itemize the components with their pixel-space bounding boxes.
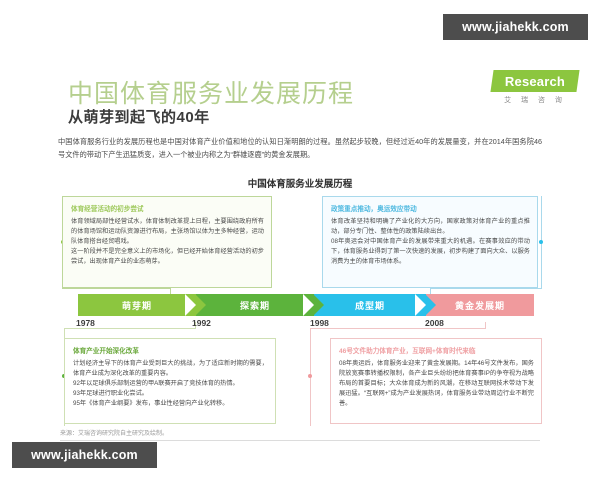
chart-title: 中国体育服务业发展历程 — [0, 176, 600, 190]
callout-body: 08年奥运后，体育服务业迎来了黄金发展期。14年46号文件发布，国务院放宽赛事转… — [339, 359, 534, 409]
callout-body: 体育领域局部性经营试水，体育体制改革提上日程，主要围绕政府所有的体育场馆和运动队… — [71, 217, 264, 267]
year-tick-2008: 2008 — [425, 318, 444, 328]
timeline-segment-germination[interactable]: 萌芽期 — [78, 294, 196, 316]
callout-body: 体育改革坚持和明确了产业化的大方向，国家政策对体育产业的重点推动，部分专门性、整… — [331, 217, 530, 267]
callout-paragraph: 95年《体育产业纲要》发布，事业性经营向产业化转移。 — [73, 399, 268, 409]
callout-paragraph: 08年奥运后，体育服务业迎来了黄金发展期。14年46号文件发布，国务院放宽赛事转… — [339, 359, 534, 409]
timeline-segment-label: 黄金发展期 — [455, 299, 505, 312]
watermark-bottom-text: www.jiahekk.com — [31, 448, 138, 462]
logo-i-letter: i — [487, 71, 491, 86]
timeline-segment-formation[interactable]: 成型期 — [314, 294, 426, 316]
callout-paragraph: 92年以足球俱乐部制运营的甲A联赛开启了竞技体育的热情。 — [73, 379, 268, 389]
callout-heading: 政策重点推动，奥运效应带动 — [331, 203, 530, 213]
watermark-top: www.jiahekk.com — [443, 14, 588, 40]
timeline-segment-golden[interactable]: 黄金发展期 — [426, 294, 534, 316]
year-tick-1998: 1998 — [310, 318, 329, 328]
callout-heading: 体育经营活动的初步尝试 — [71, 203, 264, 213]
timeline-bar: 萌芽期 探索期 成型期 黄金发展期 — [78, 294, 534, 316]
infographic-page: www.jiahekk.com www.jiahekk.com 中国体育服务业发… — [0, 0, 600, 480]
page-title: 中国体育服务业发展历程 — [68, 74, 354, 110]
connector-line — [62, 288, 170, 289]
callout-heading: 体育产业开始深化改革 — [73, 345, 268, 355]
timeline-segment-label: 探索期 — [240, 299, 270, 312]
source-note: 来源：艾瑞咨询研究院自主研究及绘制。 — [60, 428, 540, 441]
timeline-segment-label: 萌芽期 — [122, 299, 152, 312]
callout-body: 计划经济主导下的体育产业受到巨大的挑战，为了适应新时期的需要，体育产业成为深化改… — [73, 359, 268, 409]
callout-paragraph: 体育改革坚持和明确了产业化的大方向，国家政策对体育产业的重点推动，部分专门性、整… — [331, 217, 530, 237]
callout-top-right: 政策重点推动，奥运效应带动 体育改革坚持和明确了产业化的大方向，国家政策对体育产… — [322, 196, 538, 288]
callout-paragraph: 08年奥运会对中国体育产业的发展带来重大的机遇。在赛事效应的带动下，体育服务业得… — [331, 237, 530, 267]
callout-bottom-left: 体育产业开始深化改革 计划经济主导下的体育产业受到巨大的挑战，为了适应新时期的需… — [64, 338, 276, 424]
callout-top-left: 体育经营活动的初步尝试 体育领域局部性经营试水，体育体制改革提上日程，主要围绕政… — [62, 196, 272, 288]
connector-dot — [308, 374, 312, 378]
logo-subtitle: 艾 瑞 咨 询 — [492, 95, 578, 105]
timeline-segment-exploration[interactable]: 探索期 — [196, 294, 314, 316]
callout-paragraph: 体育领域局部性经营试水，体育体制改革提上日程，主要围绕政府所有的体育场馆和运动队… — [71, 217, 264, 247]
intro-paragraph: 中国体育服务行业的发展历程也是中国对体育产业价值和地位的认知日渐明朗的过程。虽然… — [58, 136, 542, 161]
callout-paragraph: 93年足球进行职业化尝试。 — [73, 389, 268, 399]
watermark-bottom: www.jiahekk.com — [12, 442, 157, 468]
year-tick-1978: 1978 — [76, 318, 95, 328]
connector-line — [310, 328, 486, 329]
timeline-segment-label: 成型期 — [355, 299, 385, 312]
page-subtitle: 从萌芽到起飞的40年 — [68, 106, 210, 127]
logo-mark: i Research — [490, 70, 579, 92]
iresearch-logo: i Research 艾 瑞 咨 询 — [492, 70, 578, 105]
connector-line — [64, 328, 196, 329]
watermark-top-text: www.jiahekk.com — [462, 20, 569, 34]
logo-wordmark: Research — [505, 74, 565, 89]
callout-paragraph: 计划经济主导下的体育产业受到巨大的挑战，为了适应新时期的需要，体育产业成为深化改… — [73, 359, 268, 379]
year-tick-1992: 1992 — [192, 318, 211, 328]
connector-dot — [539, 240, 543, 244]
callout-paragraph: 这一阶段并不是完全意义上的市场化，但已经开始体育经营活动的初步尝试，出现体育产业… — [71, 247, 264, 267]
callout-bottom-right: 46号文件助力体育产业，互联网+体育时代来临 08年奥运后，体育服务业迎来了黄金… — [330, 338, 542, 424]
callout-heading: 46号文件助力体育产业，互联网+体育时代来临 — [339, 345, 534, 355]
connector-line — [430, 288, 542, 289]
